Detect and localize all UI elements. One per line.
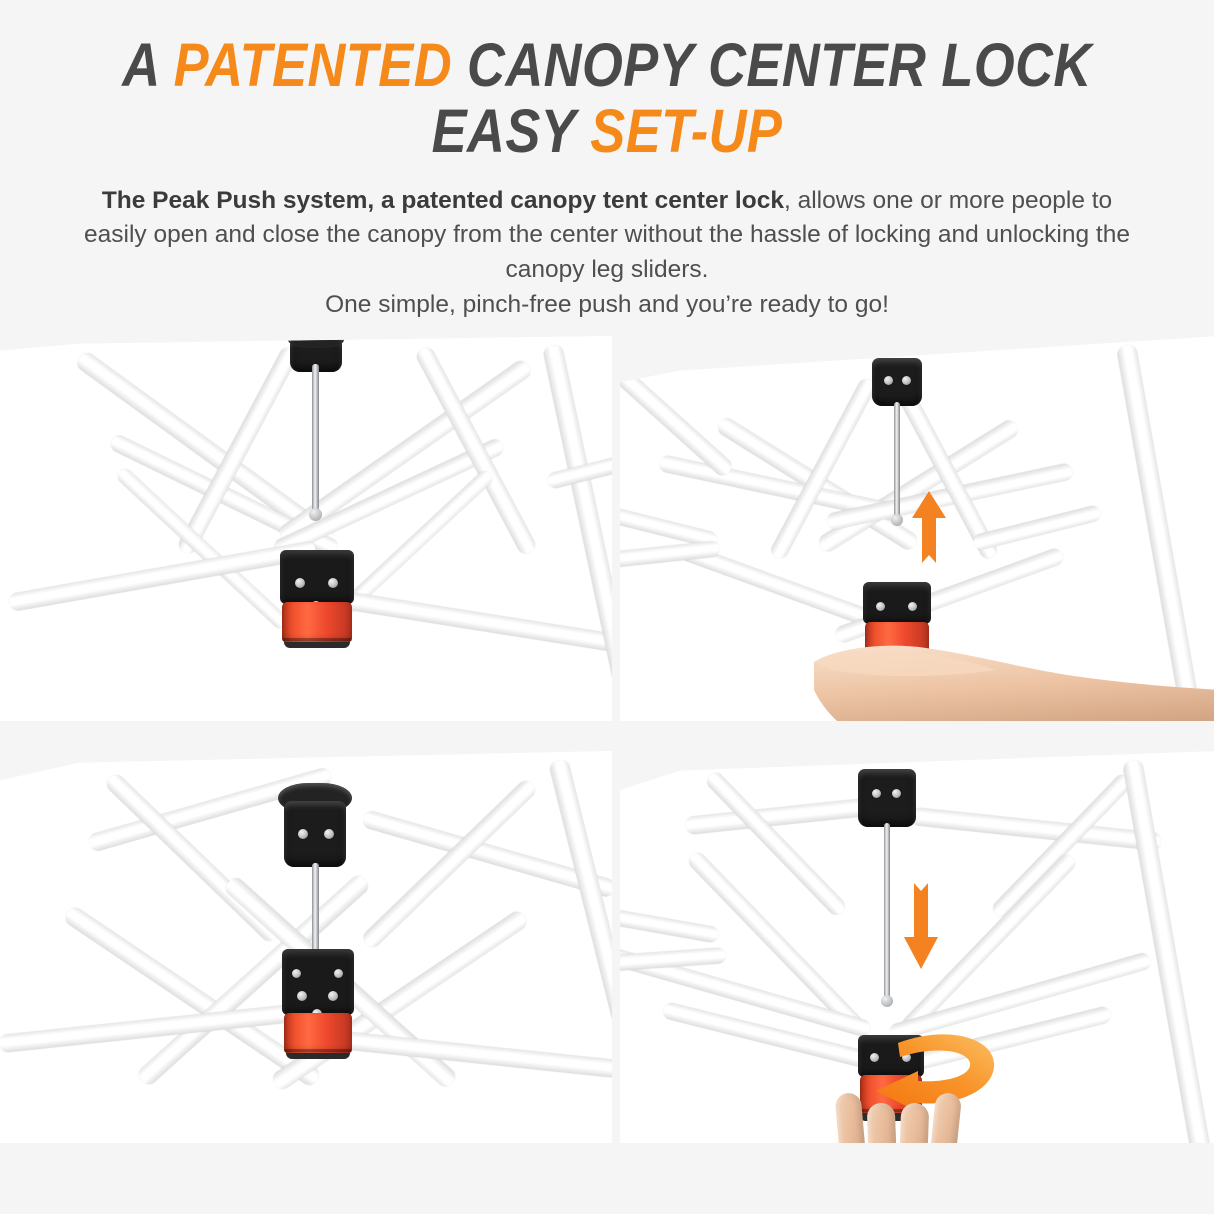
finger xyxy=(899,1103,930,1143)
hub-bolt xyxy=(908,602,917,611)
intro-paragraph: The Peak Push system, a patented canopy … xyxy=(72,184,1142,323)
frame-tube xyxy=(548,759,612,1143)
push-rod xyxy=(312,364,319,514)
headline-word-a: A xyxy=(122,31,173,99)
panel-push-up xyxy=(620,336,1214,721)
finger xyxy=(867,1103,898,1143)
center-lock-red-hub xyxy=(282,602,352,644)
peak-fitting-bolt xyxy=(872,789,881,798)
headline-line-2: EASY SET-UP xyxy=(85,102,1129,162)
page-title: A PATENTED CANOPY CENTER LOCK EASY SET-U… xyxy=(0,0,1214,162)
push-up-arrow xyxy=(912,491,946,571)
panel-grid xyxy=(0,333,1214,1133)
intro-lead-text: The Peak Push system, a patented canopy … xyxy=(102,187,784,214)
hub-bolt xyxy=(297,991,307,1001)
panel-1-photo xyxy=(0,336,612,721)
frame-tube xyxy=(972,504,1102,551)
peak-fitting xyxy=(872,358,922,406)
twist-arrow xyxy=(842,1027,1002,1111)
center-lock-black-housing xyxy=(863,582,931,624)
pull-down-arrow xyxy=(904,871,938,969)
headline-word-set-up: SET-UP xyxy=(590,97,782,165)
push-rod-tip xyxy=(881,995,893,1007)
peak-fitting-bolt xyxy=(298,829,308,839)
push-rod-tip xyxy=(891,514,903,526)
hub-bolt xyxy=(295,578,305,588)
push-rod-tip xyxy=(309,508,322,521)
frame-tube xyxy=(321,1029,612,1078)
frame-tube xyxy=(1122,759,1214,1143)
center-lock-base xyxy=(286,1053,350,1059)
peak-fitting-cap xyxy=(288,336,344,348)
push-rod xyxy=(312,863,319,955)
frame-tube xyxy=(620,905,719,943)
peak-fitting xyxy=(858,769,916,827)
hub-bolt xyxy=(328,578,338,588)
center-lock-base xyxy=(284,642,350,648)
headline-word-easy: EASY xyxy=(432,97,591,165)
center-lock-black-housing xyxy=(280,550,354,604)
panel-2-photo xyxy=(620,336,1214,721)
open-palm-shape xyxy=(806,642,1214,721)
intro-closing-text: One simple, pinch-free push and you’re r… xyxy=(325,291,889,318)
panel-release-pull-down xyxy=(620,751,1214,1143)
panel-4-photo xyxy=(620,751,1214,1143)
center-lock-black-housing xyxy=(282,949,354,1015)
frame-tube xyxy=(911,807,1162,851)
center-lock-red-hub xyxy=(284,1013,352,1055)
hub-bolt xyxy=(292,969,301,978)
push-rod xyxy=(884,823,890,1001)
peak-fitting-bolt xyxy=(902,376,911,385)
push-rod xyxy=(894,402,900,520)
hub-bolt xyxy=(876,602,885,611)
frame-tube xyxy=(311,586,612,652)
panel-collapsed-open xyxy=(0,336,612,721)
panel-locked xyxy=(0,751,612,1143)
frame-tube xyxy=(542,344,612,721)
hub-bolt xyxy=(334,969,343,978)
headline-word-canopy-center-lock: CANOPY CENTER LOCK xyxy=(452,31,1092,99)
peak-fitting-bolt xyxy=(324,829,334,839)
panel-3-photo xyxy=(0,751,612,1143)
peak-fitting-bolt xyxy=(884,376,893,385)
hub-bolt xyxy=(328,991,338,1001)
headline-line-1: A PATENTED CANOPY CENTER LOCK xyxy=(85,36,1129,96)
peak-fitting xyxy=(284,801,346,867)
peak-fitting-bolt xyxy=(892,789,901,798)
headline-word-patented: PATENTED xyxy=(174,31,452,99)
